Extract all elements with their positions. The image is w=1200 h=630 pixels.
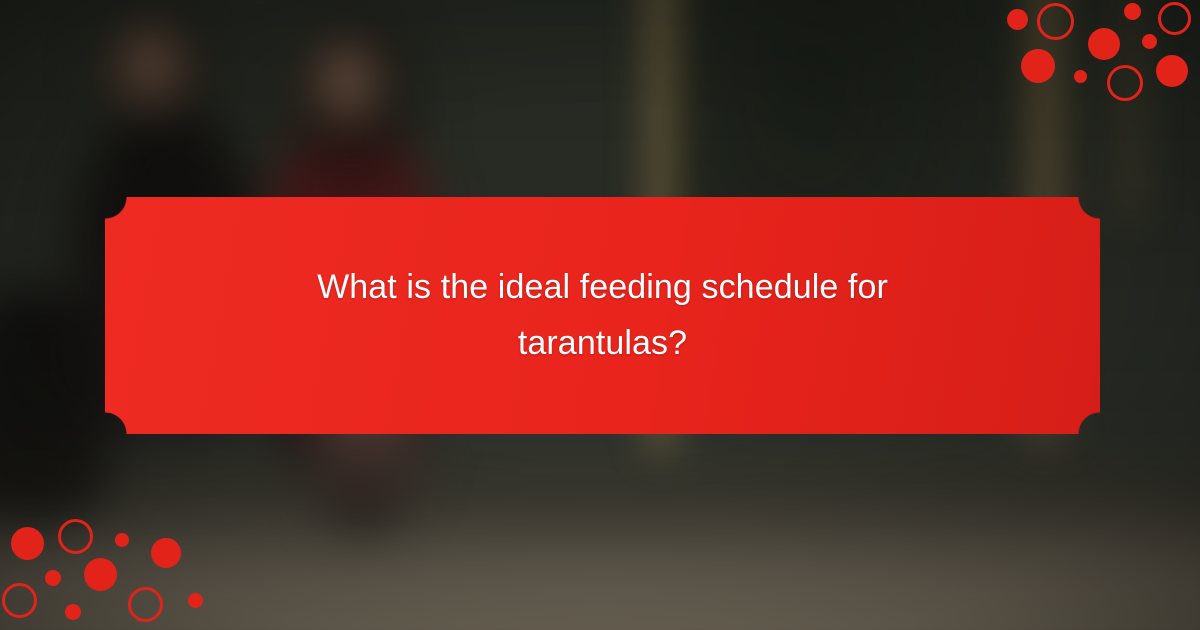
dot-bl-3 — [45, 570, 61, 586]
dot-bl-6 — [84, 558, 117, 591]
dot-tr-7 — [1124, 3, 1141, 20]
dot-bl-7 — [115, 533, 129, 547]
dot-bl-8 — [128, 587, 163, 622]
decorative-dots-top-right — [990, 0, 1200, 120]
dot-tr-10 — [1156, 55, 1188, 87]
dot-tr-8 — [1142, 34, 1157, 49]
dot-bl-5 — [65, 604, 81, 620]
headline-banner: What is the ideal feeding schedule for t… — [105, 197, 1100, 434]
dot-bl-2 — [58, 519, 93, 554]
dot-tr-5 — [1088, 28, 1120, 60]
dot-tr-2 — [1037, 3, 1074, 40]
dot-tr-9 — [1158, 2, 1191, 35]
social-card: What is the ideal feeding schedule for t… — [0, 0, 1200, 630]
dot-bl-9 — [151, 538, 181, 568]
dot-tr-3 — [1021, 49, 1055, 83]
dot-bl-10 — [188, 593, 203, 608]
dot-tr-1 — [1007, 9, 1028, 30]
page-title: What is the ideal feeding schedule for t… — [193, 260, 1013, 370]
dot-tr-4 — [1074, 70, 1087, 83]
dot-bl-4 — [2, 583, 37, 618]
decorative-dots-bottom-left — [0, 505, 225, 630]
dot-tr-6 — [1107, 65, 1143, 101]
dot-bl-1 — [11, 527, 44, 560]
